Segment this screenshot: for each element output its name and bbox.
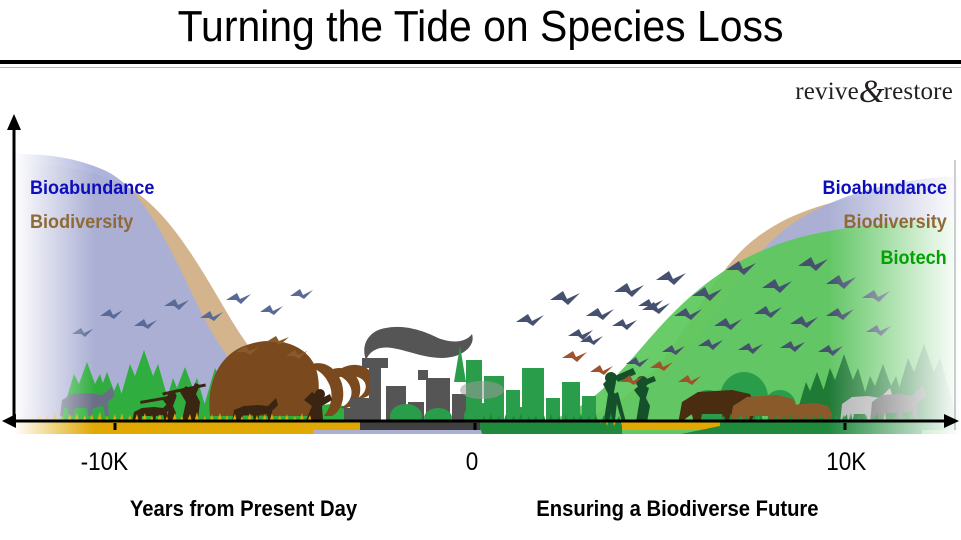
chart-area: Bioabundance Biodiversity Bioabundance B…	[0, 112, 961, 430]
header-rule-thin	[0, 67, 961, 68]
revive-and-restore-logo: revive&restore	[795, 74, 953, 111]
x-tick-label-0: 0	[466, 448, 479, 477]
y-axis-arrowhead	[7, 114, 21, 130]
header-rule-thick	[0, 60, 961, 64]
x-tick-label-10k: 10K	[826, 448, 866, 477]
logo-word-revive: revive	[795, 78, 859, 105]
x-axis-arrowhead-right	[944, 414, 959, 428]
logo-ampersand: &	[859, 74, 884, 110]
logo-word-restore: restore	[884, 78, 953, 105]
chart-axes	[0, 112, 961, 430]
page-title: Turning the Tide on Species Loss	[34, 2, 928, 52]
axis-caption-right: Ensuring a Biodiverse Future	[536, 496, 818, 522]
header: Turning the Tide on Species Loss	[0, 0, 961, 70]
x-axis-arrowhead-left	[2, 414, 16, 428]
axis-caption-left: Years from Present Day	[130, 496, 357, 522]
x-tick-label--10k: -10K	[81, 448, 129, 477]
